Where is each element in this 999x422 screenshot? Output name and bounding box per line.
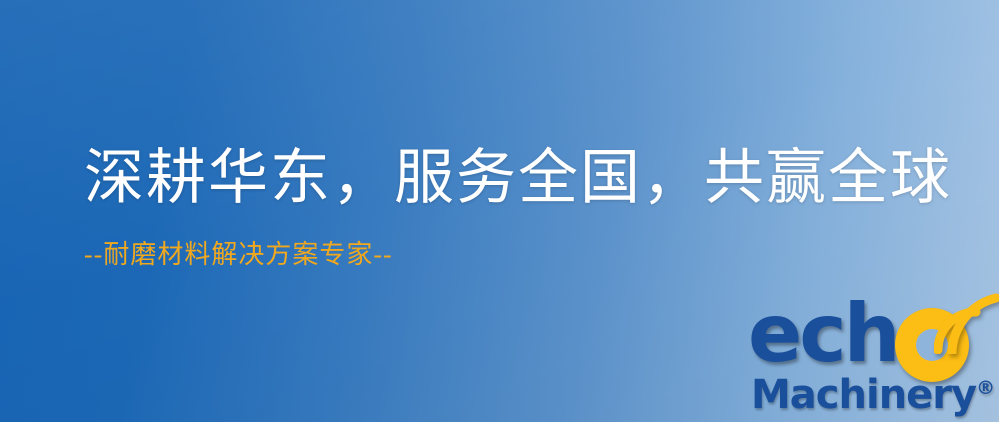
logo-subtitle-text: Machinery: [751, 372, 976, 418]
echo-machinery-logo: ech Machinery®: [748, 294, 999, 422]
banner-subline: --耐磨材料解决方案专家--: [84, 242, 952, 268]
banner-headline: 深耕华东，服务全国，共赢全球: [84, 148, 952, 208]
signal-waves-icon: [934, 288, 999, 354]
logo-subtitle: Machinery®: [751, 364, 995, 419]
registered-trademark-icon: ®: [976, 377, 995, 399]
hero-banner: 深耕华东，服务全国，共赢全球 --耐磨材料解决方案专家-- ech Machin…: [0, 0, 999, 422]
logo-wordmark-echo: ech: [748, 294, 898, 374]
banner-text-block: 深耕华东，服务全国，共赢全球 --耐磨材料解决方案专家--: [84, 148, 952, 268]
